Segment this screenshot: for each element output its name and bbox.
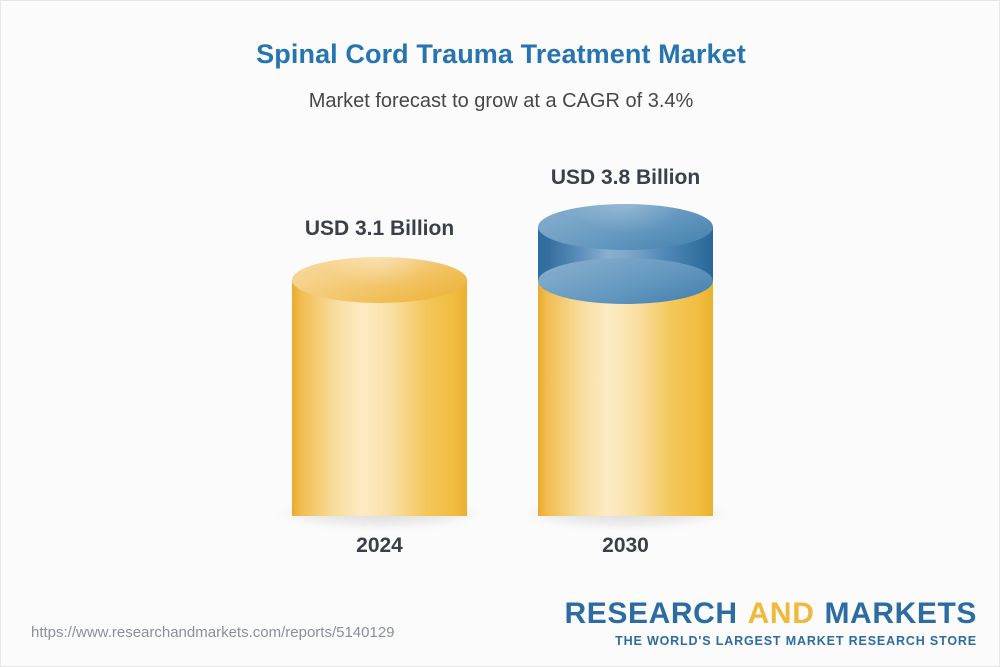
brand-name: RESEARCHANDMARKETS xyxy=(565,599,977,629)
category-label-2024: 2024 xyxy=(292,534,467,558)
chart-canvas: Spinal Cord Trauma Treatment Market Mark… xyxy=(0,0,1000,667)
segment-top-cap xyxy=(292,257,467,303)
value-label-2024: USD 3.1 Billion xyxy=(292,217,467,241)
plot-area: USD 3.1 Billion 2024 USD 3.8 Billion xyxy=(1,1,1000,667)
brand-word-markets: MARKETS xyxy=(824,597,977,630)
bar-cylinder-2030[interactable] xyxy=(538,204,713,516)
segment-top-cap xyxy=(538,204,713,250)
brand-word-and: AND xyxy=(748,597,815,630)
bar-cylinder-2024[interactable] xyxy=(292,257,467,516)
brand-word-research: RESEARCH xyxy=(565,597,738,630)
category-label-2030: 2030 xyxy=(538,534,713,558)
segment-body xyxy=(538,280,713,516)
bar-segment-2024-base xyxy=(292,257,467,516)
brand-tagline: THE WORLD'S LARGEST MARKET RESEARCH STOR… xyxy=(565,634,977,648)
segment-body xyxy=(292,280,467,516)
source-url[interactable]: https://www.researchandmarkets.com/repor… xyxy=(31,624,395,641)
bar-segment-2030-growth xyxy=(538,204,713,304)
value-label-2030: USD 3.8 Billion xyxy=(538,166,713,190)
segment-bottom-cap xyxy=(538,258,713,304)
brand-logo: RESEARCHANDMARKETS THE WORLD'S LARGEST M… xyxy=(565,599,977,648)
